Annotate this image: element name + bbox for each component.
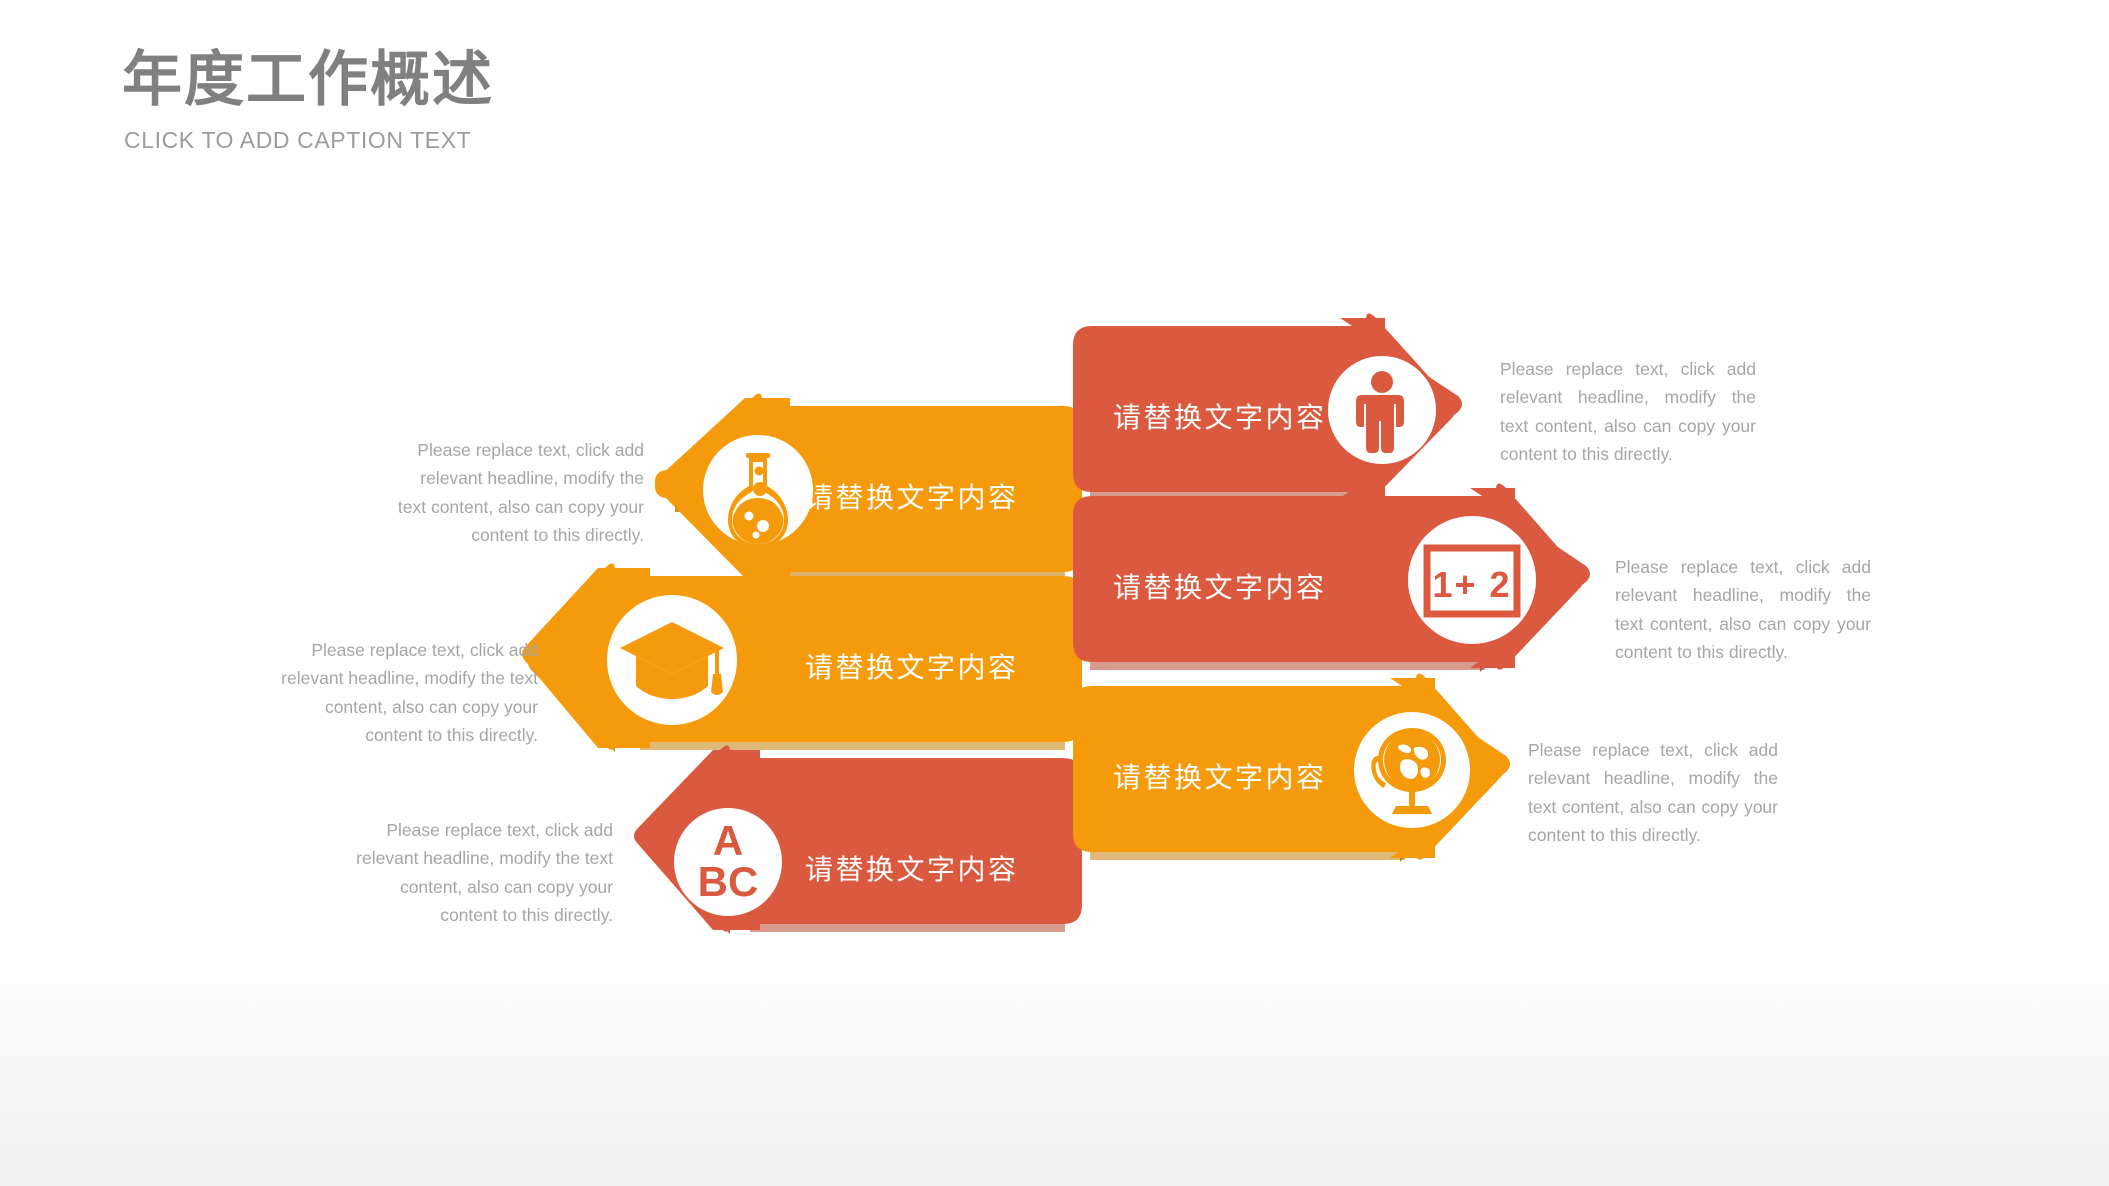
description-globe: Please replace text, click add relevant … [1528,736,1778,849]
page-title: 年度工作概述 [122,48,494,113]
arrow-label-math: 请替换文字内容 [1113,566,1327,606]
description-flask: Please replace text, click add relevant … [396,436,644,549]
arrow-label-graduation: 请替换文字内容 [805,646,1019,686]
description-abc: Please replace text, click add relevant … [348,816,613,929]
description-person: Please replace text, click add relevant … [1500,355,1756,468]
arrow-label-globe: 请替换文字内容 [1113,756,1327,796]
arrow-shape-abc[interactable]: A BC [634,745,1082,934]
arrow-label-flask: 请替换文字内容 [805,476,1019,516]
abc-icon: A [713,817,743,864]
svg-text:BC: BC [698,858,759,905]
page-subtitle: CLICK TO ADD CAPTION TEXT [124,127,494,154]
arrow-label-person: 请替换文字内容 [1113,396,1327,436]
description-math: Please replace text, click add relevant … [1615,553,1871,666]
svg-text:1+ 2: 1+ 2 [1432,564,1511,605]
arrow-label-abc: 请替换文字内容 [805,848,1019,888]
description-graduation: Please replace text, click add relevant … [280,636,538,749]
slide-header: 年度工作概述 CLICK TO ADD CAPTION TEXT [122,48,494,154]
